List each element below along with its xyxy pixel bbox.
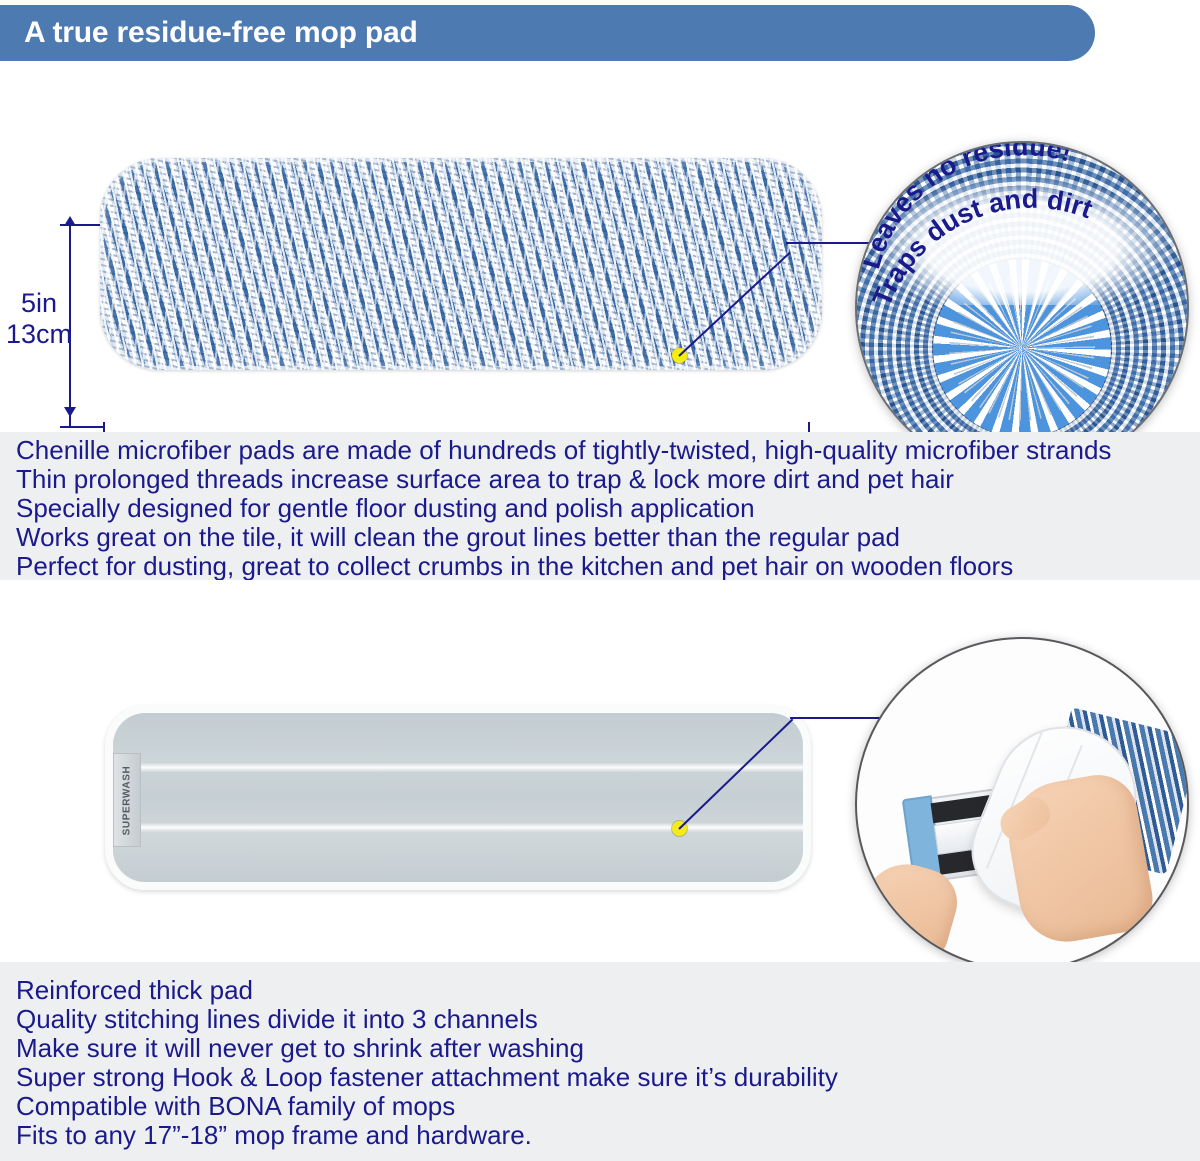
section-1-stage: 5in 13cm 18in / 46cm xyxy=(0,66,1200,432)
feature-line: Fits to any 17”-18” mop frame and hardwa… xyxy=(0,1121,1200,1150)
feature-line: Super strong Hook & Loop fastener attach… xyxy=(0,1063,1200,1092)
page-title: A true residue-free mop pad xyxy=(24,16,418,50)
header-banner: A true residue-free mop pad xyxy=(0,5,1095,61)
dimension-arrow-up-icon xyxy=(64,216,76,226)
brand-tag-label: SUPERWASH xyxy=(122,765,133,835)
feature-line: Chenille microfiber pads are made of hun… xyxy=(0,436,1200,465)
backing-pad-surface xyxy=(113,713,803,882)
pad-height-cm: 13cm xyxy=(6,319,72,350)
pad-height-inches: 5in xyxy=(6,288,72,319)
feature-line: Thin prolonged threads increase surface … xyxy=(0,465,1200,494)
brand-tag: SUPERWASH xyxy=(113,753,141,847)
chenille-zoom-callout: Leaves no residue! Traps dust and dirt xyxy=(855,141,1189,475)
dimension-arrow-down-icon xyxy=(64,407,76,417)
feature-line: Works great on the tile, it will clean t… xyxy=(0,523,1200,552)
feature-line: Specially designed for gentle floor dust… xyxy=(0,494,1200,523)
feature-line: Reinforced thick pad xyxy=(0,976,1200,1005)
attachment-photo-callout xyxy=(855,637,1189,971)
feature-panel-backing: Reinforced thick pad Quality stitching l… xyxy=(0,962,1200,1161)
stitching-line xyxy=(113,763,803,772)
dimension-tick-bottom xyxy=(60,426,104,428)
feature-line: Compatible with BONA family of mops xyxy=(0,1092,1200,1121)
fiber-starburst-graphic xyxy=(933,259,1111,437)
chenille-pad-image xyxy=(100,158,822,370)
backing-pad-image: SUPERWASH xyxy=(105,705,811,890)
feature-line: Perfect for dusting, great to collect cr… xyxy=(0,552,1200,581)
feature-line: Quality stitching lines divide it into 3… xyxy=(0,1005,1200,1034)
pad-height-label: 5in 13cm xyxy=(6,288,72,350)
feature-panel-chenille: Chenille microfiber pads are made of hun… xyxy=(0,432,1200,584)
feature-line: Make sure it will never get to shrink af… xyxy=(0,1034,1200,1063)
stitching-line xyxy=(113,823,803,832)
infographic-page: A true residue-free mop pad 5in 13cm 18i… xyxy=(0,0,1200,1147)
